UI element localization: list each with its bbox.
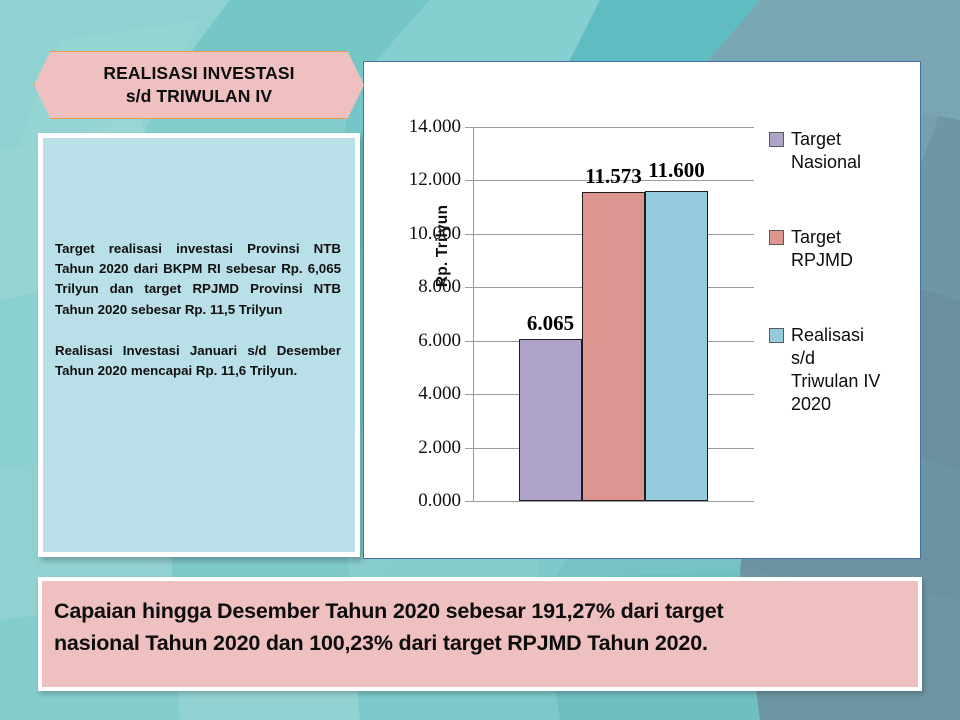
title-banner: REALISASI INVESTASI s/d TRIWULAN IV: [34, 51, 364, 119]
info-paragraph-2: Realisasi Investasi Januari s/d Desember…: [55, 341, 341, 381]
chart-legend-swatch: [769, 230, 784, 245]
chart-bar: [519, 339, 582, 501]
chart-y-tick-label: 8.000: [418, 276, 461, 298]
chart-legend-item[interactable]: TargetNasional: [769, 128, 919, 174]
chart-bar-value-label: 11.600: [648, 158, 705, 183]
chart-y-tick-label: 4.000: [418, 383, 461, 405]
chart-y-tick: [465, 287, 473, 288]
title-line-1: REALISASI INVESTASI: [103, 62, 294, 85]
chart-bar: [645, 191, 708, 501]
chart-bar-value-label: 6.065: [527, 311, 574, 336]
chart-legend-label: TargetRPJMD: [791, 226, 853, 272]
bottom-line-1: Capaian hingga Desember Tahun 2020 sebes…: [54, 599, 724, 623]
chart-legend-swatch: [769, 132, 784, 147]
chart-gridline: [473, 501, 754, 502]
chart-legend-swatch: [769, 328, 784, 343]
info-paragraph-1: Target realisasi investasi Provinsi NTB …: [55, 239, 341, 320]
chart-y-tick-label: 14.000: [409, 116, 461, 138]
chart-legend: TargetNasionalTargetRPJMDRealisasis/dTri…: [769, 128, 919, 468]
chart-y-axis-line: [473, 127, 474, 501]
chart-plot-area: 0.0002.0004.0006.0008.00010.00012.00014.…: [473, 127, 754, 501]
chart-bar-value-label: 11.573: [585, 164, 642, 189]
chart-y-tick: [465, 501, 473, 502]
chart-y-tick: [465, 448, 473, 449]
bottom-summary-banner: Capaian hingga Desember Tahun 2020 sebes…: [38, 577, 922, 691]
chart-gridline: [473, 127, 754, 128]
chart-legend-label: Realisasis/dTriwulan IV2020: [791, 324, 880, 416]
info-text-content: Target realisasi investasi Provinsi NTB …: [55, 239, 341, 381]
chart-y-tick: [465, 180, 473, 181]
chart-bar: [582, 192, 645, 501]
info-text-box: Target realisasi investasi Provinsi NTB …: [38, 133, 360, 557]
bottom-banner-text: Capaian hingga Desember Tahun 2020 sebes…: [54, 595, 906, 660]
chart-y-tick-label: 12.000: [409, 169, 461, 191]
chart-legend-label: TargetNasional: [791, 128, 861, 174]
title-line-2: s/d TRIWULAN IV: [126, 85, 272, 108]
chart-y-tick-label: 10.000: [409, 223, 461, 245]
bottom-line-2: nasional Tahun 2020 dan 100,23% dari tar…: [54, 627, 906, 659]
chart-y-tick: [465, 341, 473, 342]
chart-panel: Rp. Trilyun 0.0002.0004.0006.0008.00010.…: [363, 61, 921, 559]
title-banner-text: REALISASI INVESTASI s/d TRIWULAN IV: [34, 51, 364, 119]
chart-y-tick: [465, 394, 473, 395]
chart-y-tick: [465, 234, 473, 235]
chart-y-tick-label: 6.000: [418, 330, 461, 352]
chart-y-tick: [465, 127, 473, 128]
chart-legend-item[interactable]: TargetRPJMD: [769, 226, 919, 272]
chart-legend-item[interactable]: Realisasis/dTriwulan IV2020: [769, 324, 919, 416]
chart-y-tick-label: 0.000: [418, 490, 461, 512]
chart-y-tick-label: 2.000: [418, 437, 461, 459]
